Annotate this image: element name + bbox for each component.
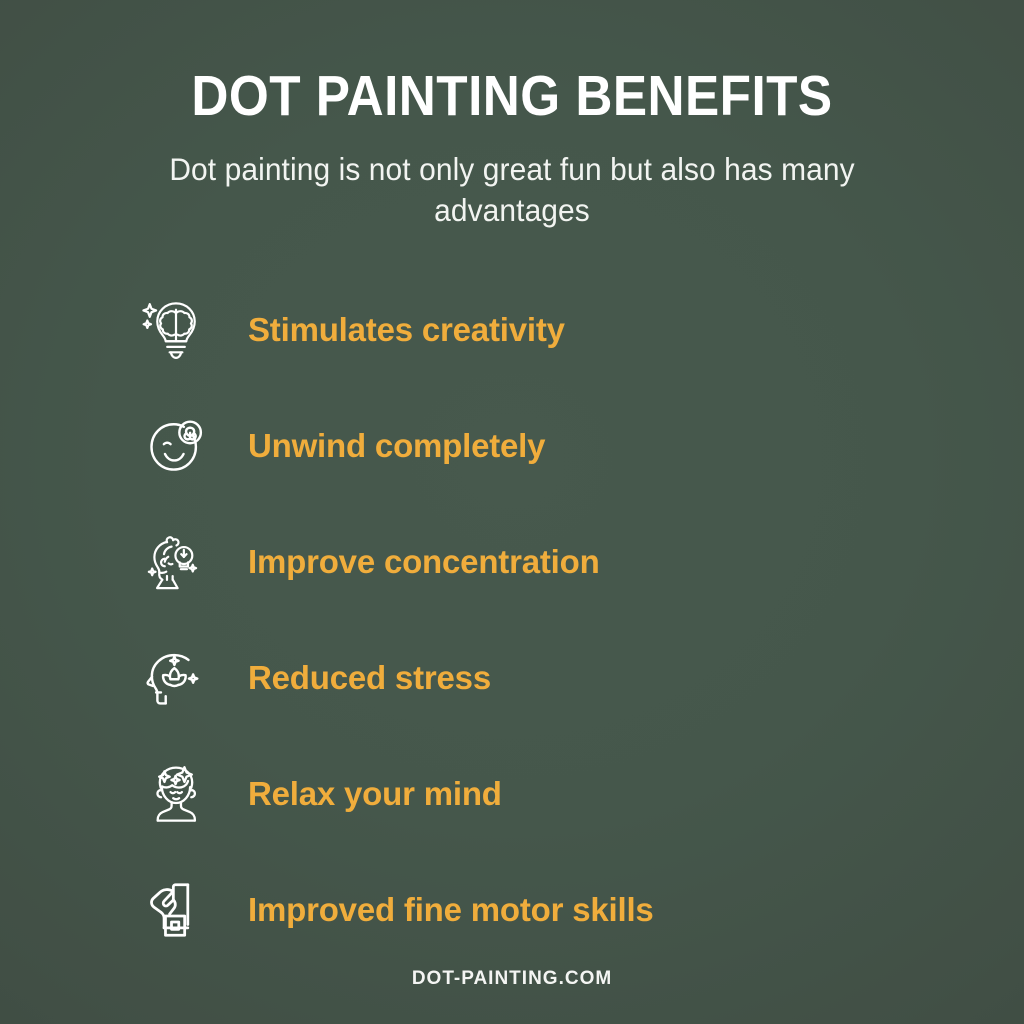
benefit-row: Improved fine motor skills — [0, 852, 1024, 968]
benefits-list: Stimulates creativity Unwind completely — [0, 272, 1024, 968]
benefit-row: Unwind completely — [0, 388, 1024, 504]
smiley-face-flower-icon — [128, 400, 224, 492]
benefit-label: Relax your mind — [248, 775, 502, 813]
benefit-row: Reduced stress — [0, 620, 1024, 736]
benefit-label: Improved fine motor skills — [248, 891, 654, 929]
benefit-row: Relax your mind — [0, 736, 1024, 852]
woman-face-stars-icon — [128, 748, 224, 840]
benefit-row: Improve concentration — [0, 504, 1024, 620]
page-title: DOT PAINTING BENEFITS — [51, 64, 973, 128]
lightbulb-brain-icon — [128, 284, 224, 376]
benefit-label: Stimulates creativity — [248, 311, 565, 349]
head-lotus-icon — [128, 632, 224, 724]
website-url: DOT-PAINTING.COM — [412, 968, 612, 989]
hand-pinch-block-icon — [128, 864, 224, 956]
page-subtitle: Dot painting is not only great fun but a… — [165, 149, 859, 231]
benefit-label: Reduced stress — [248, 659, 491, 697]
woman-head-lightbulb-icon — [128, 516, 224, 608]
poster-footer: DOT-PAINTING.COM — [0, 968, 1024, 990]
benefit-row: Stimulates creativity — [0, 272, 1024, 388]
benefit-label: Unwind completely — [248, 427, 545, 465]
benefit-label: Improve concentration — [248, 543, 600, 581]
infographic-poster: DOT PAINTING BENEFITS Dot painting is no… — [0, 0, 1024, 1024]
poster-header: DOT PAINTING BENEFITS Dot painting is no… — [0, 0, 1024, 231]
